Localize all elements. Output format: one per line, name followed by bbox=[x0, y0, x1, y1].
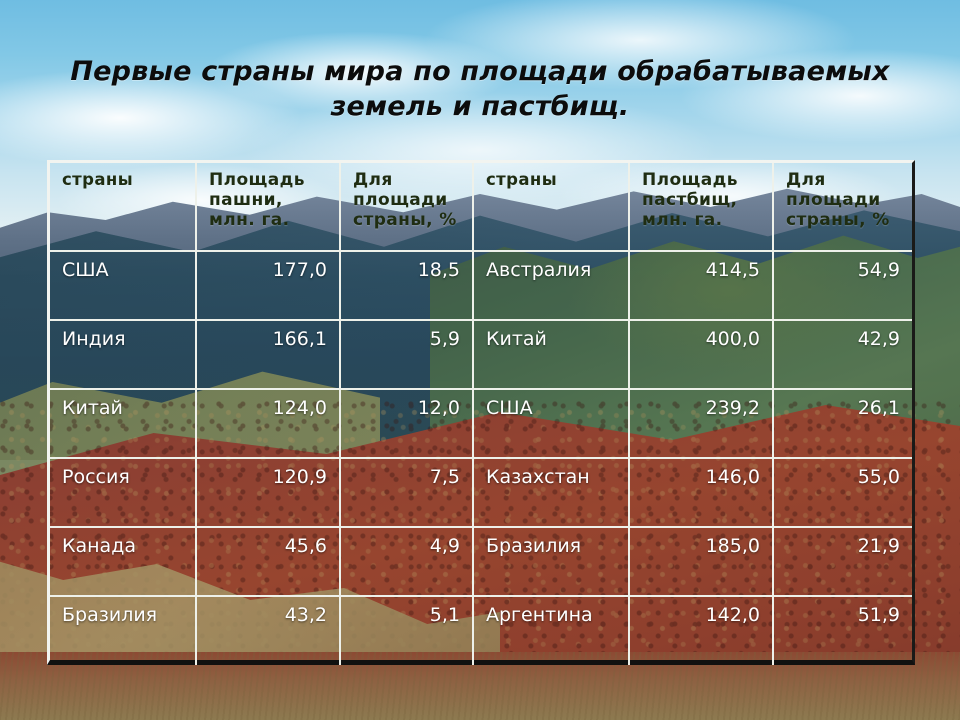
table-row: США 177,0 18,5 Австралия 414,5 54,9 bbox=[50, 251, 912, 320]
cell-right-percent: 42,9 bbox=[773, 320, 912, 389]
table-row: Канада 45,6 4,9 Бразилия 185,0 21,9 bbox=[50, 527, 912, 596]
header-right-percent: Для площади страны, % bbox=[773, 163, 912, 251]
cell-right-area: 414,5 bbox=[629, 251, 773, 320]
cell-right-country: США bbox=[473, 389, 629, 458]
cell-left-percent: 18,5 bbox=[340, 251, 473, 320]
cell-left-percent: 5,1 bbox=[340, 596, 473, 665]
cell-left-percent: 5,9 bbox=[340, 320, 473, 389]
cell-left-percent: 12,0 bbox=[340, 389, 473, 458]
header-left-area: Площадь пашни, млн. га. bbox=[196, 163, 340, 251]
cell-left-percent: 7,5 bbox=[340, 458, 473, 527]
cell-right-percent: 51,9 bbox=[773, 596, 912, 665]
cell-right-percent: 21,9 bbox=[773, 527, 912, 596]
cell-right-percent: 54,9 bbox=[773, 251, 912, 320]
cell-left-country: Россия bbox=[50, 458, 196, 527]
cell-left-area: 45,6 bbox=[196, 527, 340, 596]
cell-right-country: Аргентина bbox=[473, 596, 629, 665]
statistics-table: страны Площадь пашни, млн. га. Для площа… bbox=[50, 163, 912, 665]
slide-title: Первые страны мира по площади обрабатыва… bbox=[60, 55, 900, 124]
cell-right-area: 239,2 bbox=[629, 389, 773, 458]
table-row: Россия 120,9 7,5 Казахстан 146,0 55,0 bbox=[50, 458, 912, 527]
cell-left-country: Канада bbox=[50, 527, 196, 596]
cell-left-country: США bbox=[50, 251, 196, 320]
data-table-container: страны Площадь пашни, млн. га. Для площа… bbox=[47, 160, 915, 665]
cell-right-percent: 55,0 bbox=[773, 458, 912, 527]
presentation-slide: Первые страны мира по площади обрабатыва… bbox=[0, 0, 960, 720]
cell-left-area: 120,9 bbox=[196, 458, 340, 527]
cell-left-area: 43,2 bbox=[196, 596, 340, 665]
cell-right-country: Китай bbox=[473, 320, 629, 389]
cell-left-area: 166,1 bbox=[196, 320, 340, 389]
header-right-area: Площадь пастбищ, млн. га. bbox=[629, 163, 773, 251]
header-left-country: страны bbox=[50, 163, 196, 251]
cell-right-area: 400,0 bbox=[629, 320, 773, 389]
table-row: Бразилия 43,2 5,1 Аргентина 142,0 51,9 bbox=[50, 596, 912, 665]
cell-left-country: Индия bbox=[50, 320, 196, 389]
cell-left-area: 177,0 bbox=[196, 251, 340, 320]
table-row: Китай 124,0 12,0 США 239,2 26,1 bbox=[50, 389, 912, 458]
table-header-row: страны Площадь пашни, млн. га. Для площа… bbox=[50, 163, 912, 251]
cell-right-area: 146,0 bbox=[629, 458, 773, 527]
cell-right-area: 185,0 bbox=[629, 527, 773, 596]
cell-left-country: Китай bbox=[50, 389, 196, 458]
cell-right-country: Бразилия bbox=[473, 527, 629, 596]
cell-right-country: Австралия bbox=[473, 251, 629, 320]
cell-left-country: Бразилия bbox=[50, 596, 196, 665]
table-row: Индия 166,1 5,9 Китай 400,0 42,9 bbox=[50, 320, 912, 389]
header-right-country: страны bbox=[473, 163, 629, 251]
cell-right-area: 142,0 bbox=[629, 596, 773, 665]
cell-left-percent: 4,9 bbox=[340, 527, 473, 596]
header-left-percent: Для площади страны, % bbox=[340, 163, 473, 251]
cell-right-country: Казахстан bbox=[473, 458, 629, 527]
cell-right-percent: 26,1 bbox=[773, 389, 912, 458]
cell-left-area: 124,0 bbox=[196, 389, 340, 458]
